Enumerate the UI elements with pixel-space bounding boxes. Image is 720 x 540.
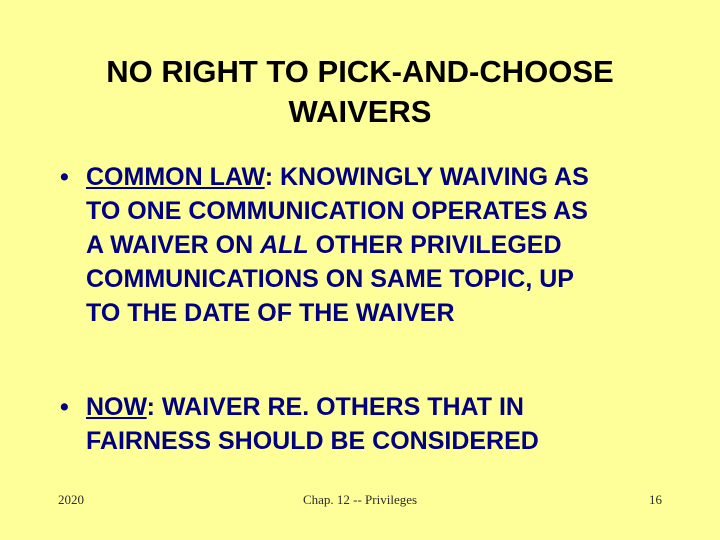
bullet-marker-icon: • [60, 390, 80, 424]
page-title: NO RIGHT TO PICK-AND-CHOOSE WAIVERS [36, 52, 684, 132]
bullet-text-common-law: COMMON LAW: KNOWINGLY WAIVING AS TO ONE … [86, 160, 674, 330]
footer-chapter-label: Chap. 12 -- Privileges [0, 492, 720, 508]
bullet-line-3-pre: A WAIVER ON [86, 231, 260, 259]
page-title-line-1: NO RIGHT TO PICK-AND-CHOOSE [36, 52, 684, 92]
bullet-line-1-suffix: : KNOWINGLY WAIVING AS [265, 163, 589, 191]
bullet-line-3: A WAIVER ON ALL OTHER PRIVILEGED [86, 228, 674, 262]
slide-canvas: NO RIGHT TO PICK-AND-CHOOSE WAIVERS • CO… [0, 0, 720, 540]
bullet-line-1: NOW: WAIVER RE. OTHERS THAT IN [86, 390, 674, 424]
slide-body: • COMMON LAW: KNOWINGLY WAIVING AS TO ON… [54, 160, 674, 458]
footer-page-number: 16 [649, 492, 662, 508]
bullet-line-5: TO THE DATE OF THE WAIVER [86, 296, 674, 330]
bullet-line-1: COMMON LAW: KNOWINGLY WAIVING AS [86, 160, 674, 194]
bullet-marker-icon: • [60, 160, 80, 194]
bullet-item-now: • NOW: WAIVER RE. OTHERS THAT IN FAIRNES… [54, 390, 674, 458]
slide-footer: 2020 Chap. 12 -- Privileges 16 [0, 492, 720, 516]
bullet-item-common-law: • COMMON LAW: KNOWINGLY WAIVING AS TO ON… [54, 160, 674, 330]
bullet-line-3-post: OTHER PRIVILEGED [309, 231, 562, 259]
bullet-line-2: FAIRNESS SHOULD BE CONSIDERED [86, 424, 674, 458]
page-title-line-2: WAIVERS [36, 92, 684, 132]
emphasis-italic-all: ALL [260, 231, 309, 259]
bullet-line-2: TO ONE COMMUNICATION OPERATES AS [86, 194, 674, 228]
bullet-text-now: NOW: WAIVER RE. OTHERS THAT IN FAIRNESS … [86, 390, 674, 458]
bullet-line-4: COMMUNICATIONS ON SAME TOPIC, UP [86, 262, 674, 296]
emphasis-underline-common-law: COMMON LAW [86, 163, 265, 191]
emphasis-underline-now: NOW [86, 393, 147, 421]
bullet-line-1-suffix: : WAIVER RE. OTHERS THAT IN [147, 393, 524, 421]
